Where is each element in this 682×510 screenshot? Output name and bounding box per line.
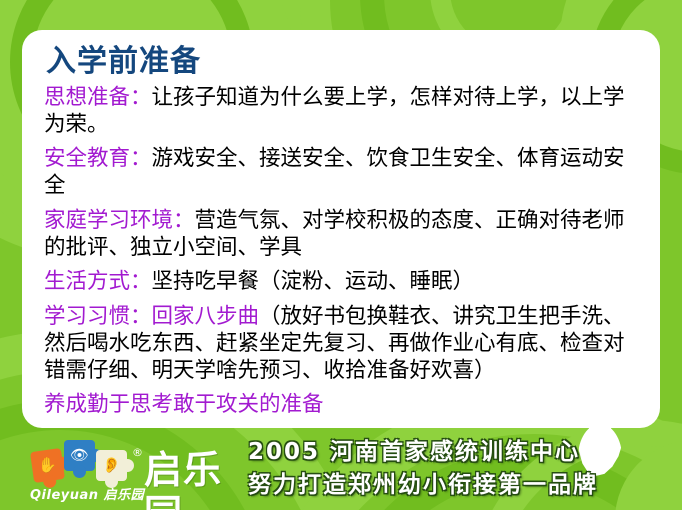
logo-script-text: Qileyuan 启乐园 xyxy=(30,484,144,503)
registered-mark: ® xyxy=(132,446,143,459)
section-text-3: 坚持吃早餐（淀粉、运动、睡眠） xyxy=(152,269,475,293)
section-paragraph-3: 生活方式：坚持吃早餐（淀粉、运动、睡眠） xyxy=(44,268,640,295)
hand-icon: ✋ xyxy=(32,450,63,481)
section-paragraph-1: 安全教育：游戏安全、接送安全、饮食卫生安全、体育运动安全 xyxy=(44,145,640,200)
brand-logo: ✋ 👁 👂 ® Qileyuan 启乐园 启乐园 xyxy=(26,434,236,506)
section-label-3: 生活方式： xyxy=(44,269,152,293)
section-paragraph-4: 学习习惯：回家八步曲（放好书包换鞋衣、讲究卫生把手洗、然后喝水吃东西、赶紧坐定先… xyxy=(44,303,640,385)
section-label-2: 家庭学习环境： xyxy=(44,208,195,232)
section-label-1: 安全教育： xyxy=(44,146,152,170)
slide-canvas: 入学前准备 思想准备：让孩子知道为什么要上学，怎样对待上学，以上学为荣。 安全教… xyxy=(0,0,682,510)
tagline-line-1: 2005 河南首家感统训练中心 xyxy=(248,436,668,469)
section-paragraph-2: 家庭学习环境：营造气氛、对学校积极的态度、正确对待老师的批评、独立小空间、学具 xyxy=(44,207,640,262)
ear-icon: 👂 xyxy=(96,450,127,481)
tagline-group: 2005 河南首家感统训练中心 努力打造郑州幼小衔接第一品牌 xyxy=(248,436,668,502)
page-title: 入学前准备 xyxy=(46,46,640,78)
closing-line: 养成勤于思考敢于攻关的准备 xyxy=(44,391,640,418)
logo-wordmark: 启乐园 xyxy=(144,448,236,510)
section-paragraph-0: 思想准备：让孩子知道为什么要上学，怎样对待上学，以上学为荣。 xyxy=(44,84,640,139)
section-label-4: 学习习惯：回家八步曲 xyxy=(44,304,259,328)
section-label-0: 思想准备： xyxy=(44,85,152,109)
footer-bar: ✋ 👁 👂 ® Qileyuan 启乐园 启乐园 2005 河南首家感统训练中心… xyxy=(0,430,682,510)
tagline-line-2: 努力打造郑州幼小衔接第一品牌 xyxy=(248,469,668,502)
eyes-icon: 👁 xyxy=(64,440,95,471)
content-card: 入学前准备 思想准备：让孩子知道为什么要上学，怎样对待上学，以上学为荣。 安全教… xyxy=(22,30,660,428)
